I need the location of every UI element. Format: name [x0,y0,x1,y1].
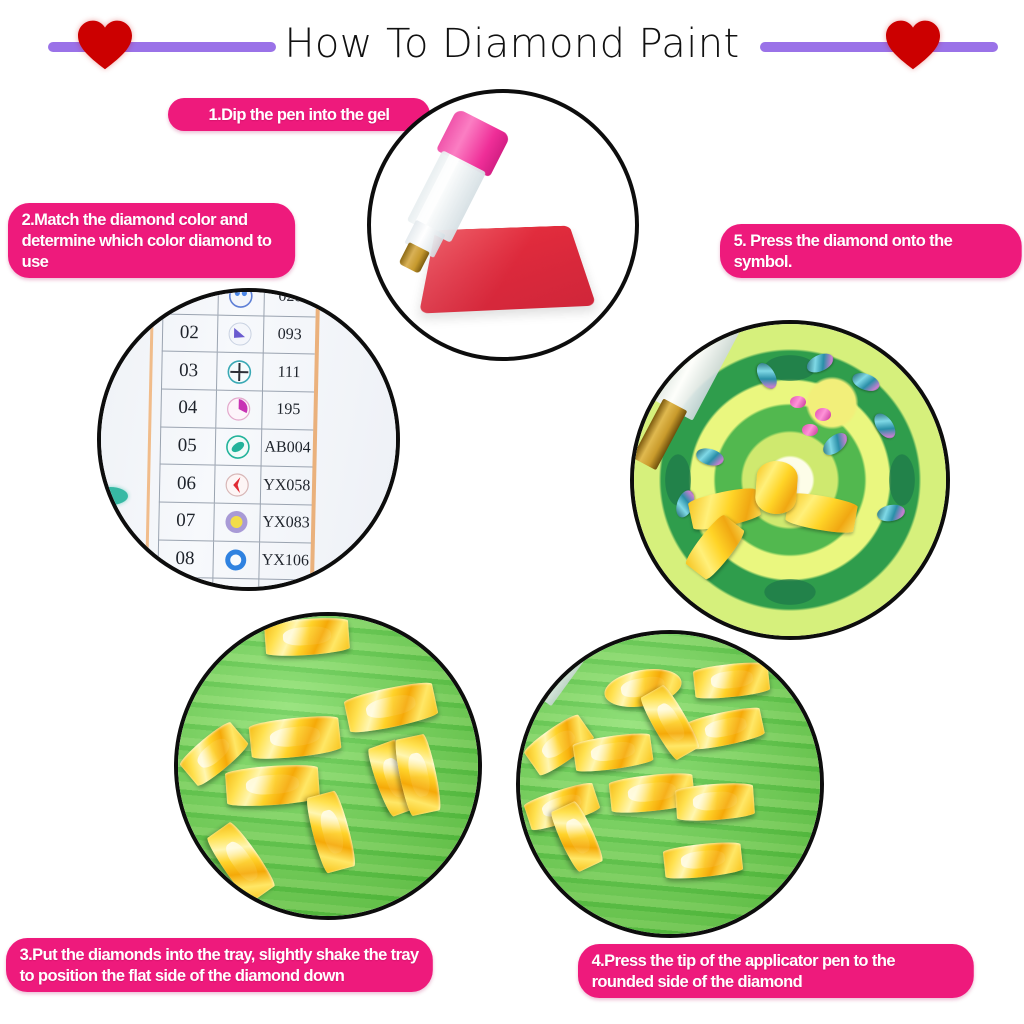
photo-press-diamond [634,324,946,636]
photo-pen-press-diamond [520,634,820,934]
color-chart-table: 028 02 093 03 111 04 [157,288,317,591]
gem-pink [790,396,806,408]
diamond-facet [680,849,725,870]
chart-code: YX106 [259,542,311,580]
diamond-facet [590,740,636,762]
step-3-photo [174,612,482,920]
diamond-facet [406,752,433,798]
chart-symbol [214,466,261,504]
table-row: 05 AB004 [160,427,314,468]
step-3-label: 3.Put the diamonds into the tray, slight… [6,938,433,992]
chart-symbol [218,288,265,315]
photo-diamonds-in-tray [178,616,478,916]
infographic-poster: How To Diamond Paint 1.Dip the pen into … [0,0,1024,1024]
step-5-label: 5. Press the diamond onto the symbol. [720,224,1022,278]
chart-number [162,288,218,315]
chart-symbol [217,316,264,354]
diamond-facet [563,816,594,856]
chart-symbol [215,429,262,467]
diamond-facet [693,790,738,811]
diamond-facet [283,625,331,646]
page-title: How To Diamond Paint [0,18,1024,70]
table-row: 07 YX083 [158,503,312,544]
chart-code: YX125 [259,580,311,591]
diamond-facet [628,781,677,804]
chart-code: YX083 [260,505,312,543]
step-1-photo [367,89,639,361]
table-row: 09 YX125 [157,578,311,591]
gem-yellow-active [754,460,798,516]
chart-code: 093 [264,316,316,354]
table-row: 08 YX106 [157,540,311,581]
chart-number: 08 [157,540,213,578]
chart-number: 07 [158,503,214,541]
chart-number: 05 [160,427,216,465]
diamond-facet [246,773,299,796]
chart-code: 028 [264,288,316,316]
step-4-photo [516,630,824,938]
chart-number: 06 [159,465,215,503]
chart-symbol [216,391,263,429]
chart-code: 111 [263,354,315,392]
chart-code: YX058 [261,467,313,505]
table-row: 02 093 [162,314,316,355]
chart-symbol [217,353,264,391]
table-row: 03 111 [161,352,315,393]
table-row: 04 195 [160,390,314,431]
chart-number: 04 [160,390,216,428]
diamond-facet [318,808,347,855]
photo-pen-dip [371,93,635,357]
step-2-photo: 028 02 093 03 111 04 [97,288,400,591]
diamond [264,616,350,658]
chart-number: 03 [161,352,217,390]
diamond-facet [364,692,417,722]
diamond-facet [269,724,321,749]
diamond [675,781,755,822]
chart-symbol [214,504,261,542]
chart-symbol [212,579,259,591]
chart-number: 09 [157,578,213,591]
poster-header: How To Diamond Paint [0,0,1024,92]
step-5-photo [630,320,950,640]
chart-number: 02 [162,314,218,352]
table-row: 028 [162,288,316,317]
photo-color-chart: 028 02 093 03 111 04 [101,292,396,587]
diamond-facet [703,715,748,740]
gem-pink [815,408,831,420]
step-2-label: 2.Match the diamond color and determine … [8,203,295,278]
step-4-label: 4.Press the tip of the applicator pen to… [578,944,974,998]
table-row: 06 YX058 [159,465,313,506]
chart-code: AB004 [261,429,313,467]
chart-symbol [213,542,260,580]
chart-code: 195 [262,392,314,430]
diamond-facet [710,669,753,690]
